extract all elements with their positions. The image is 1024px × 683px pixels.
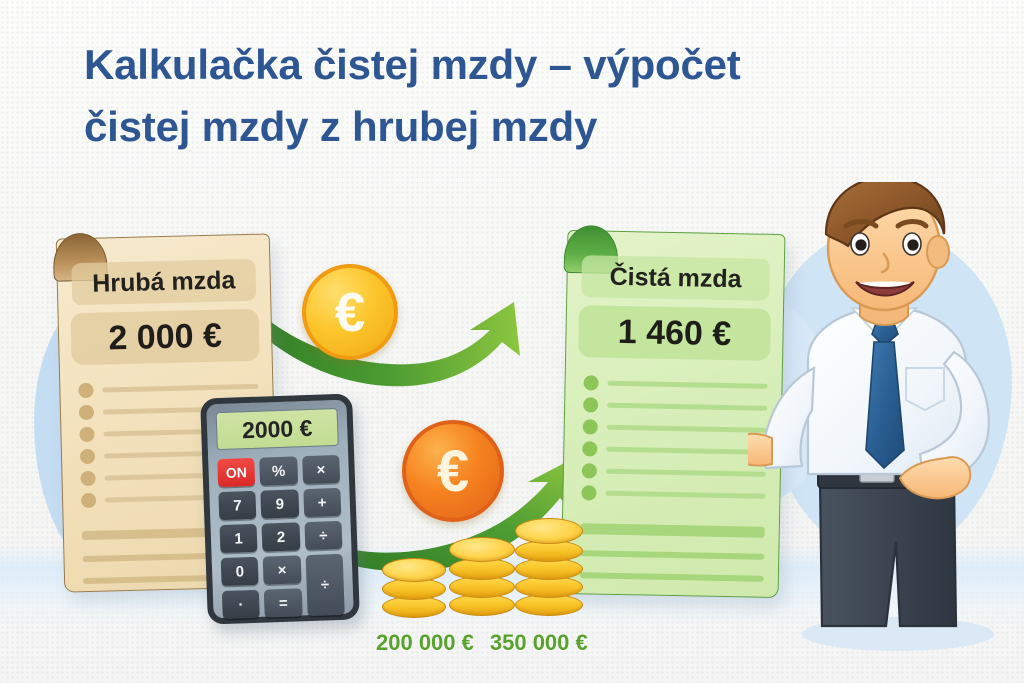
gross-document-heading: Hrubá mzda <box>71 259 256 305</box>
bullet-icon <box>80 470 95 485</box>
footer-bar <box>581 523 765 538</box>
coin-amount-labels: 200 000 € 350 000 € <box>376 630 588 656</box>
bullet-icon <box>79 404 94 419</box>
line-rule <box>606 468 766 476</box>
coin-stack-large <box>515 512 581 620</box>
amount-label-1: 200 000 € <box>376 630 474 656</box>
euro-symbol: € <box>335 280 366 344</box>
euro-symbol: € <box>437 438 469 505</box>
calculator[interactable]: 2000 € ON % × 7 9 + 1 2 ÷ 0 × ÷ · = <box>200 393 360 624</box>
calculator-key-9[interactable]: 9 <box>261 489 299 518</box>
bullet-icon <box>79 426 94 441</box>
calculator-key-on[interactable]: ON <box>217 458 255 487</box>
net-document-heading: Čistá mzda <box>581 255 770 301</box>
amount-label-2: 350 000 € <box>490 630 588 656</box>
calculator-key-0[interactable]: 0 <box>221 557 259 586</box>
line-rule <box>606 446 766 454</box>
calculator-keypad[interactable]: ON % × 7 9 + 1 2 ÷ 0 × ÷ · = <box>217 455 345 619</box>
calculator-key-7[interactable]: 7 <box>218 491 256 520</box>
calculator-key-divide[interactable]: ÷ <box>304 521 342 550</box>
calculator-key-decimal[interactable]: · <box>222 590 260 619</box>
calculator-key-percent[interactable]: % <box>260 456 298 485</box>
illustration-canvas: Kalkulačka čistej mzdy – výpočet čistej … <box>0 0 1024 683</box>
bullet-icon <box>583 375 598 390</box>
bullet-icon <box>583 397 598 412</box>
calculator-display: 2000 € <box>216 408 339 450</box>
businessman-illustration <box>748 182 1024 682</box>
calculator-key-1[interactable]: 1 <box>220 524 258 553</box>
pupil-left <box>855 239 866 250</box>
trousers <box>820 482 956 626</box>
euro-coin-gold-icon: € <box>302 264 398 360</box>
bullet-icon <box>582 463 597 478</box>
page-title: Kalkulačka čistej mzdy – výpočet čistej … <box>84 34 784 158</box>
coin <box>382 558 446 582</box>
line-rule <box>607 424 767 432</box>
coin <box>515 518 583 544</box>
calculator-key-equals[interactable]: = <box>264 588 302 617</box>
bullet-icon <box>582 441 597 456</box>
footer-bar <box>580 550 764 560</box>
bullet-icon <box>581 485 596 500</box>
list-item <box>581 481 765 507</box>
euro-coin-orange-icon: € <box>402 420 504 522</box>
bullet-icon <box>583 419 598 434</box>
line-rule <box>607 402 767 410</box>
net-document-footer <box>580 523 765 598</box>
calculator-key-multiply[interactable]: × <box>302 455 340 484</box>
line-rule <box>605 490 765 498</box>
calculator-key-divide-tall[interactable]: ÷ <box>305 554 344 616</box>
bullet-icon <box>78 382 93 397</box>
calculator-key-plus[interactable]: + <box>303 488 341 517</box>
ear <box>927 236 949 268</box>
line-rule <box>102 383 258 392</box>
coin-stack-medium <box>449 532 513 620</box>
left-hand <box>748 434 772 466</box>
line-rule <box>608 380 768 388</box>
footer-bar <box>580 572 764 582</box>
pupil-right <box>907 239 918 250</box>
bullet-icon <box>81 492 96 507</box>
calculator-key-2[interactable]: 2 <box>262 522 300 551</box>
net-document-line-items <box>581 371 768 507</box>
coin <box>449 537 515 562</box>
net-salary-amount: 1 460 € <box>578 305 771 361</box>
coin-stack-small <box>382 556 444 618</box>
gross-salary-amount: 2 000 € <box>71 309 260 366</box>
bullet-icon <box>80 448 95 463</box>
calculator-key-multiply-2[interactable]: × <box>263 555 301 584</box>
